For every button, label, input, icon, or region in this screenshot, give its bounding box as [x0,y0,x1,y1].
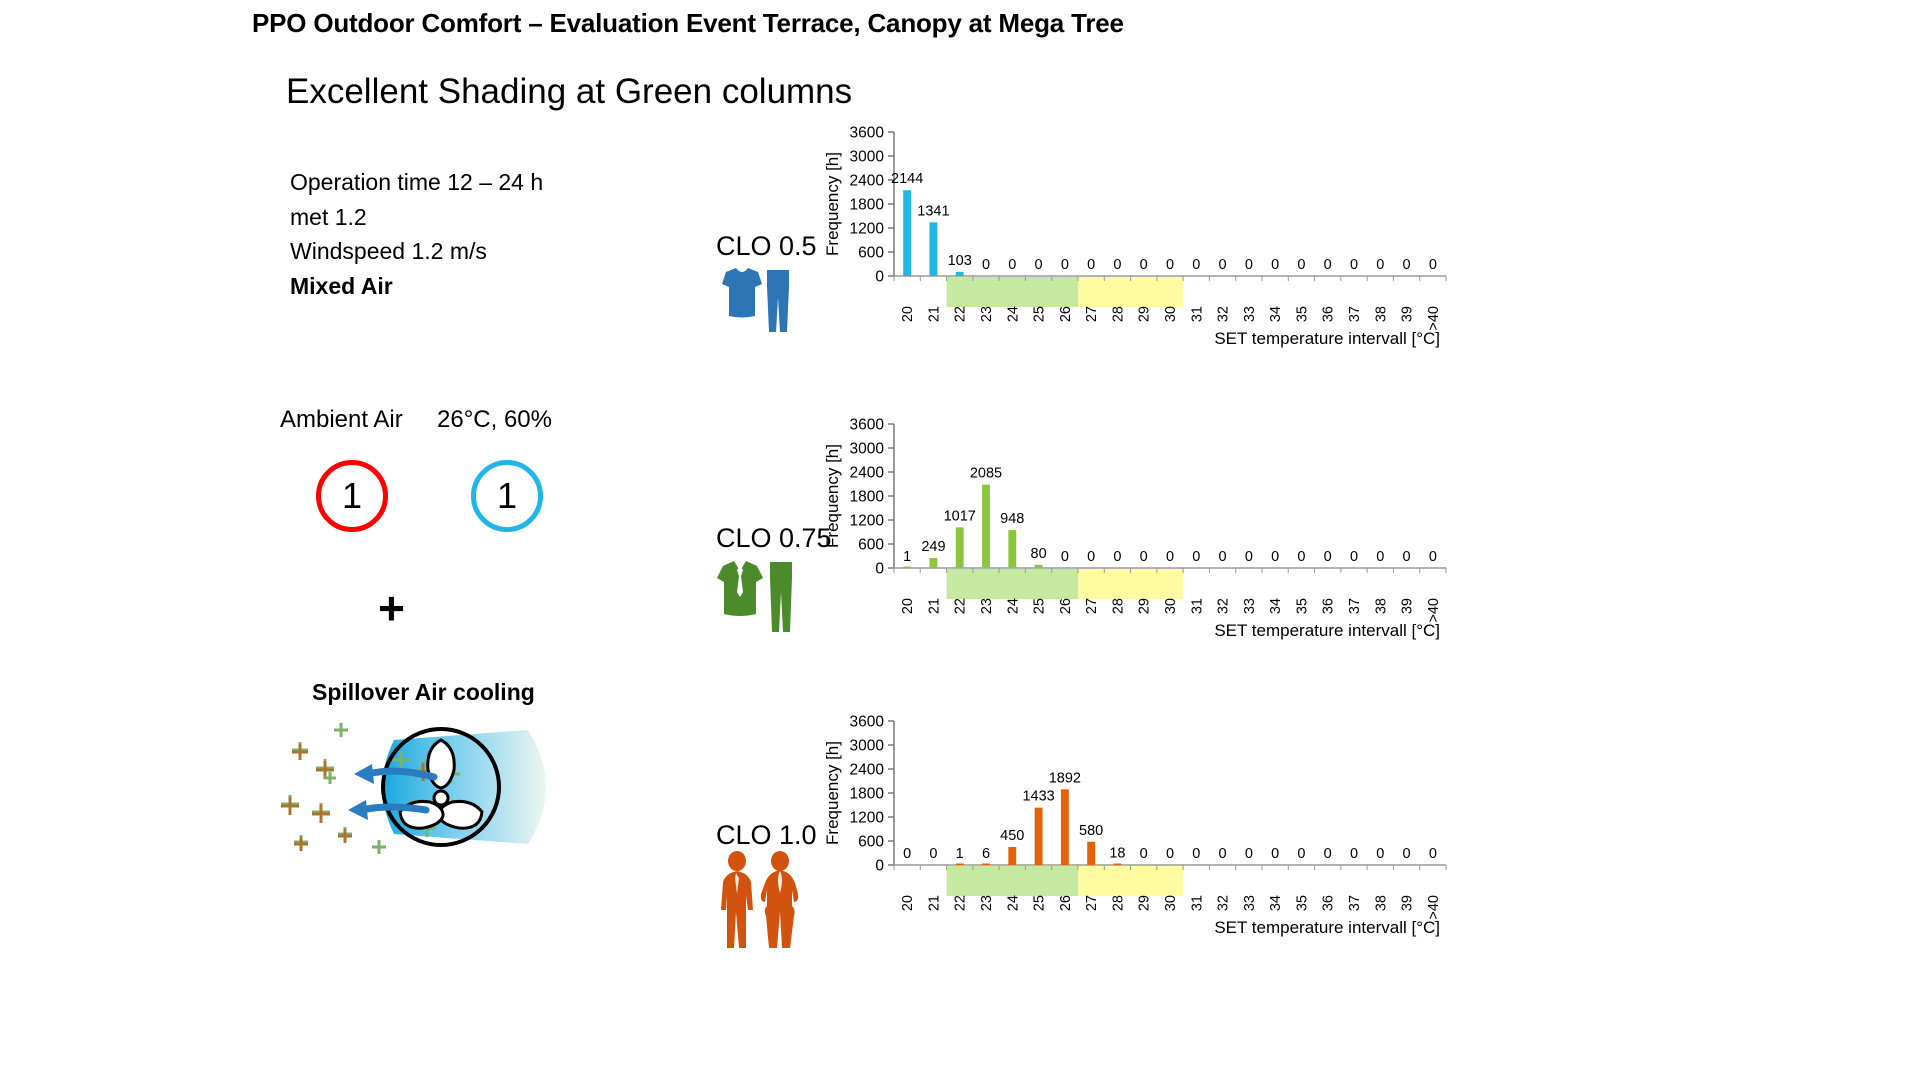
bar [1035,565,1043,568]
x-axis-tick-label: 29 [1137,598,1153,614]
bar [1008,530,1016,568]
x-axis-tick-label: 36 [1321,306,1337,322]
x-axis-tick-label: 33 [1242,598,1258,614]
y-axis-tick-label: 0 [875,858,884,875]
ambient-air-value: 26°C, 60% [437,406,552,434]
bar-value-label: 0 [1271,846,1279,862]
y-axis-tick-label: 2400 [850,173,885,190]
y-axis-tick-label: 1800 [850,786,885,803]
x-axis-tick-label: 33 [1242,306,1258,322]
bar [956,272,964,276]
bar-value-label: 1341 [917,203,949,219]
x-axis-tick-label: 33 [1242,895,1258,911]
x-axis-tick-label: 39 [1400,895,1416,911]
bar-value-label: 2144 [891,171,923,187]
x-axis-tick-label: 22 [953,598,969,614]
bar-value-label: 0 [1297,846,1305,862]
bar [982,864,990,866]
y-axis-tick-label: 3600 [850,417,885,434]
bar-value-label: 6 [982,846,990,862]
parameter-list: Operation time 12 – 24 h met 1.2 Windspe… [290,165,543,303]
x-axis-tick-label: 34 [1268,895,1284,911]
bar-value-label: 0 [903,846,911,862]
x-axis-tick-label: 22 [953,895,969,911]
bar-value-label: 0 [1429,549,1437,565]
x-axis-tick-label: 35 [1294,598,1310,614]
bar-value-label: 0 [1350,846,1358,862]
ambient-air-count-badge: 1 [316,460,388,532]
x-axis-tick-label: >40 [1426,598,1442,623]
clo-label-0: CLO 0.5 [716,231,817,262]
bar [982,485,990,568]
x-axis-tick-label: 25 [1032,895,1048,911]
chart-clo-0-75: 060012001800240030003600Frequency [h]120… [820,410,1460,642]
yellow-comfort-band [1078,569,1183,599]
x-axis-tick-label: 23 [979,306,995,322]
bar-value-label: 580 [1079,823,1103,839]
bar-value-label: 0 [1350,257,1358,273]
y-axis-tick-label: 2400 [850,465,885,482]
x-axis-tick-label: 25 [1032,306,1048,322]
spillover-diagram [276,712,616,862]
y-axis-tick-label: 1200 [850,221,885,238]
y-axis-tick-label: 1800 [850,489,885,506]
bar-value-label: 0 [1061,257,1069,273]
param-air-mode: Mixed Air [290,269,543,304]
yellow-comfort-band [1078,866,1183,896]
bar-value-label: 0 [1035,257,1043,273]
x-axis-tick-label: 27 [1084,895,1100,911]
bar-value-label: 0 [1140,846,1148,862]
bar-value-label: 0 [982,257,990,273]
param-operation-time: Operation time 12 – 24 h [290,165,543,200]
bar-value-label: 0 [1350,549,1358,565]
bar [929,222,937,276]
x-axis-tick-label: 38 [1373,895,1389,911]
bar-value-label: 0 [1113,257,1121,273]
y-axis-tick-label: 600 [858,245,884,262]
bar-value-label: 80 [1031,546,1047,562]
param-windspeed: Windspeed 1.2 m/s [290,234,543,269]
x-axis-tick-label: 22 [953,306,969,322]
y-axis-tick-label: 3000 [850,149,885,166]
x-axis-tick-label: 37 [1347,895,1363,911]
y-axis-tick-label: 600 [858,537,884,554]
bar-value-label: 0 [1245,846,1253,862]
ambient-condition-count-badge: 1 [471,460,543,532]
x-axis-tick-label: 32 [1216,306,1232,322]
x-axis-tick-label: 32 [1216,895,1232,911]
bar-value-label: 1 [956,846,964,862]
bar-value-label: 0 [1166,549,1174,565]
bar-value-label: 18 [1109,845,1125,861]
param-met: met 1.2 [290,200,543,235]
bar-value-label: 0 [929,846,937,862]
x-axis-tick-label: 28 [1110,598,1126,614]
ambient-air-count-value: 1 [342,478,362,514]
x-axis-tick-label: 20 [900,895,916,911]
x-axis-tick-label: 26 [1058,598,1074,614]
y-axis-tick-label: 3600 [850,714,885,731]
bar-value-label: 0 [1113,549,1121,565]
y-axis-tick-label: 1200 [850,513,885,530]
x-axis-tick-label: 21 [926,598,942,614]
clo-label-1: CLO 0.75 [716,523,832,554]
x-axis-tick-label: 28 [1110,306,1126,322]
y-axis-tick-label: 1800 [850,197,885,214]
x-axis-tick-label: 30 [1163,306,1179,322]
bar [903,567,911,569]
x-axis-tick-label: 31 [1189,895,1205,911]
bar-value-label: 0 [1087,257,1095,273]
spillover-label: Spillover Air cooling [312,679,535,706]
x-axis-tick-label: 27 [1084,598,1100,614]
x-axis-tick-label: 31 [1189,306,1205,322]
x-axis-tick-label: 20 [900,306,916,322]
bar [903,190,911,276]
bar-value-label: 0 [1245,257,1253,273]
x-axis-tick-label: 27 [1084,306,1100,322]
x-axis-tick-label: 23 [979,598,995,614]
bar-value-label: 1433 [1022,789,1054,805]
x-axis-tick-label: 34 [1268,598,1284,614]
bar-value-label: 0 [1140,549,1148,565]
bar-value-label: 1892 [1049,770,1081,786]
y-axis-tick-label: 2400 [850,762,885,779]
bar-value-label: 249 [921,539,945,555]
y-axis-tick-label: 0 [875,561,884,578]
x-axis-tick-label: 39 [1400,306,1416,322]
y-axis-tick-label: 1200 [850,810,885,827]
shirt-tie-and-trousers-icon [710,558,796,641]
chart-clo-0-5: 060012001800240030003600Frequency [h]214… [820,118,1460,350]
x-axis-tick-label: 38 [1373,598,1389,614]
bar-value-label: 0 [1192,549,1200,565]
green-comfort-band [947,866,1078,896]
y-axis-tick-label: 600 [858,834,884,851]
bar [1035,808,1043,865]
y-axis-title: Frequency [h] [823,741,842,845]
x-axis-tick-label: 24 [1005,306,1021,322]
bar-value-label: 0 [1376,257,1384,273]
x-axis-tick-label: 32 [1216,598,1232,614]
bar-value-label: 0 [1087,549,1095,565]
x-axis-tick-label: >40 [1426,895,1442,920]
y-axis-tick-label: 3000 [850,441,885,458]
bar-value-label: 0 [1297,257,1305,273]
x-axis-tick-label: 37 [1347,598,1363,614]
bar-value-label: 0 [1324,257,1332,273]
bar-value-label: 0 [1376,846,1384,862]
page-title: PPO Outdoor Comfort – Evaluation Event T… [252,8,1124,39]
bar-value-label: 450 [1000,828,1024,844]
x-axis-tick-label: 29 [1137,306,1153,322]
x-axis-tick-label: 34 [1268,306,1284,322]
x-axis-tick-label: 24 [1005,598,1021,614]
bar [929,558,937,568]
bar [1113,864,1121,866]
bar-value-label: 0 [1166,846,1174,862]
bar-value-label: 2085 [970,466,1002,482]
bar-value-label: 0 [1219,549,1227,565]
bar-value-label: 0 [1140,257,1148,273]
slide-root: PPO Outdoor Comfort – Evaluation Event T… [0,0,1920,1080]
bar-value-label: 0 [1219,257,1227,273]
x-axis-tick-label: 35 [1294,895,1310,911]
x-axis-tick-label: 26 [1058,306,1074,322]
x-axis-tick-label: 21 [926,306,942,322]
bar-value-label: 0 [1376,549,1384,565]
green-comfort-band [947,277,1078,307]
x-axis-tick-label: 35 [1294,306,1310,322]
y-axis-tick-label: 0 [875,269,884,286]
ambient-condition-count-value: 1 [497,478,517,514]
bar-value-label: 0 [1429,257,1437,273]
x-axis-tick-label: 36 [1321,598,1337,614]
business-couple-icon [712,850,808,955]
bar-value-label: 103 [948,253,972,269]
x-axis-tick-label: 31 [1189,598,1205,614]
x-axis-tick-label: 25 [1032,598,1048,614]
bar [1008,847,1016,865]
bar-value-label: 1 [903,549,911,565]
bar-value-label: 0 [1271,549,1279,565]
y-axis-tick-label: 3600 [850,125,885,142]
bar-value-label: 0 [1271,257,1279,273]
bar-value-label: 0 [1403,257,1411,273]
x-axis-title: SET temperature intervall [°C] [1214,621,1440,640]
clo-label-2: CLO 1.0 [716,820,817,851]
y-axis-tick-label: 3000 [850,738,885,755]
bar [1087,842,1095,865]
bar-value-label: 0 [1403,846,1411,862]
plus-operator: + [378,585,405,631]
bar-value-label: 0 [1219,846,1227,862]
chart-svg: 060012001800240030003600Frequency [h]214… [820,118,1460,350]
x-axis-title: SET temperature intervall [°C] [1214,918,1440,937]
tshirt-and-trousers-icon [712,266,796,343]
bar [956,527,964,568]
bar-value-label: 0 [1245,549,1253,565]
yellow-comfort-band [1078,277,1183,307]
y-axis-title: Frequency [h] [823,444,842,548]
green-comfort-band [947,569,1078,599]
x-axis-tick-label: 29 [1137,895,1153,911]
bar-value-label: 0 [1297,549,1305,565]
bar-value-label: 0 [1403,549,1411,565]
bar-value-label: 948 [1000,511,1024,527]
bar [956,864,964,866]
x-axis-tick-label: 24 [1005,895,1021,911]
bar-value-label: 0 [1324,846,1332,862]
bar-value-label: 0 [1166,257,1174,273]
bar-value-label: 0 [1008,257,1016,273]
y-axis-title: Frequency [h] [823,152,842,256]
x-axis-tick-label: 30 [1163,598,1179,614]
x-axis-tick-label: 36 [1321,895,1337,911]
bar-value-label: 0 [1192,257,1200,273]
chart-clo-1-0: 060012001800240030003600Frequency [h]020… [820,707,1460,939]
x-axis-tick-label: 37 [1347,306,1363,322]
bar-value-label: 0 [1429,846,1437,862]
x-axis-tick-label: 38 [1373,306,1389,322]
x-axis-tick-label: 39 [1400,598,1416,614]
page-subtitle: Excellent Shading at Green columns [286,72,852,112]
x-axis-tick-label: 23 [979,895,995,911]
x-axis-title: SET temperature intervall [°C] [1214,329,1440,348]
bar-value-label: 0 [1324,549,1332,565]
x-axis-tick-label: 20 [900,598,916,614]
chart-svg: 060012001800240030003600Frequency [h]120… [820,410,1460,642]
bar-value-label: 0 [1192,846,1200,862]
x-axis-tick-label: 28 [1110,895,1126,911]
x-axis-tick-label: 26 [1058,895,1074,911]
ambient-air-label: Ambient Air [280,406,403,434]
bar-value-label: 1017 [944,508,976,524]
bar [1061,789,1069,865]
x-axis-tick-label: 30 [1163,895,1179,911]
x-axis-tick-label: >40 [1426,306,1442,331]
chart-svg: 060012001800240030003600Frequency [h]020… [820,707,1460,939]
bar-value-label: 0 [1061,549,1069,565]
x-axis-tick-label: 21 [926,895,942,911]
